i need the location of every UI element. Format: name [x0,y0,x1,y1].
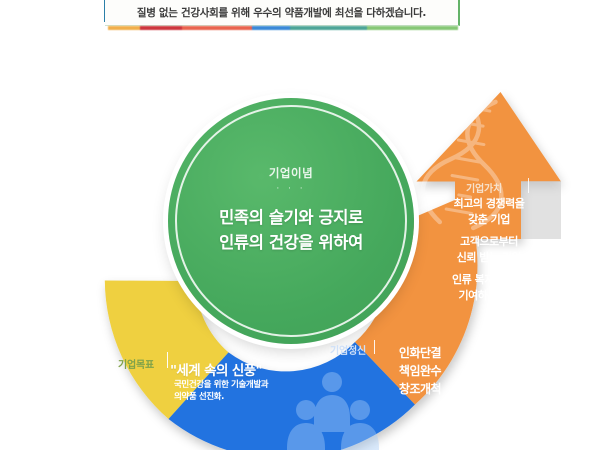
value-item-1-line-2: 갖춘 기업 [468,213,510,226]
segment-label-spirit: 기업정신 [330,342,366,357]
spirit-item-2: 책임완수 [375,362,465,380]
value-item-1: 최고의 경쟁력을 갖춘 기업 [430,196,548,227]
goal-subtitle-line-2: 의약품 선진화. [174,392,224,402]
value-item-2-line-2: 신뢰 받는 기업 [457,251,521,264]
value-item-1-line-1: 최고의 경쟁력을 [454,197,525,210]
segment-rule-value [528,178,529,193]
segment-list-value: 최고의 경쟁력을 갖춘 기업 고객으로부터 신뢰 받는 기업 인류 복지 증진에… [430,196,548,311]
goal-subtitle-line-1: 국민건강을 위한 기술개발과 [174,380,268,390]
spirit-item-1: 인화단결 [375,344,465,362]
segment-label-value: 기업가치 [466,180,502,195]
goal-subtitle: 국민건강을 위한 기술개발과 의약품 선진화. [174,379,298,403]
value-item-3-line-2: 기여하는 기업 [458,289,519,302]
goal-title: "세계 속의 신풍" [170,359,300,379]
spirit-item-3: 창조개척 [375,380,465,398]
core-statement-line-2: 인류의 건강을 위하여 [219,231,363,256]
core-philosophy-circle: 기업이념 · · · 민족의 슬기와 긍지로 인류의 건강을 위하여 [168,98,414,344]
value-item-3-line-1: 인류 복지 증진에 [452,273,526,286]
value-item-2-line-1: 고객으로부터 [460,235,518,248]
infographic-canvas: 질병 없는 건강사회를 위해 우수의 약품개발에 최선을 다하겠습니다. [0,0,600,450]
segment-rule-goal [167,352,168,368]
segment-list-spirit: 인화단결 책임완수 창조개척 [375,344,465,399]
value-item-3: 인류 복지 증진에 기여하는 기업 [430,272,548,303]
core-dots: · · · [276,184,305,194]
core-kicker: 기업이념 [269,165,313,181]
core-statement-line-1: 민족의 슬기와 긍지로 [219,206,363,231]
value-item-2: 고객으로부터 신뢰 받는 기업 [430,234,548,265]
core-statement: 민족의 슬기와 긍지로 인류의 건강을 위하여 [219,206,363,256]
segment-label-goal: 기업목표 [118,356,154,371]
